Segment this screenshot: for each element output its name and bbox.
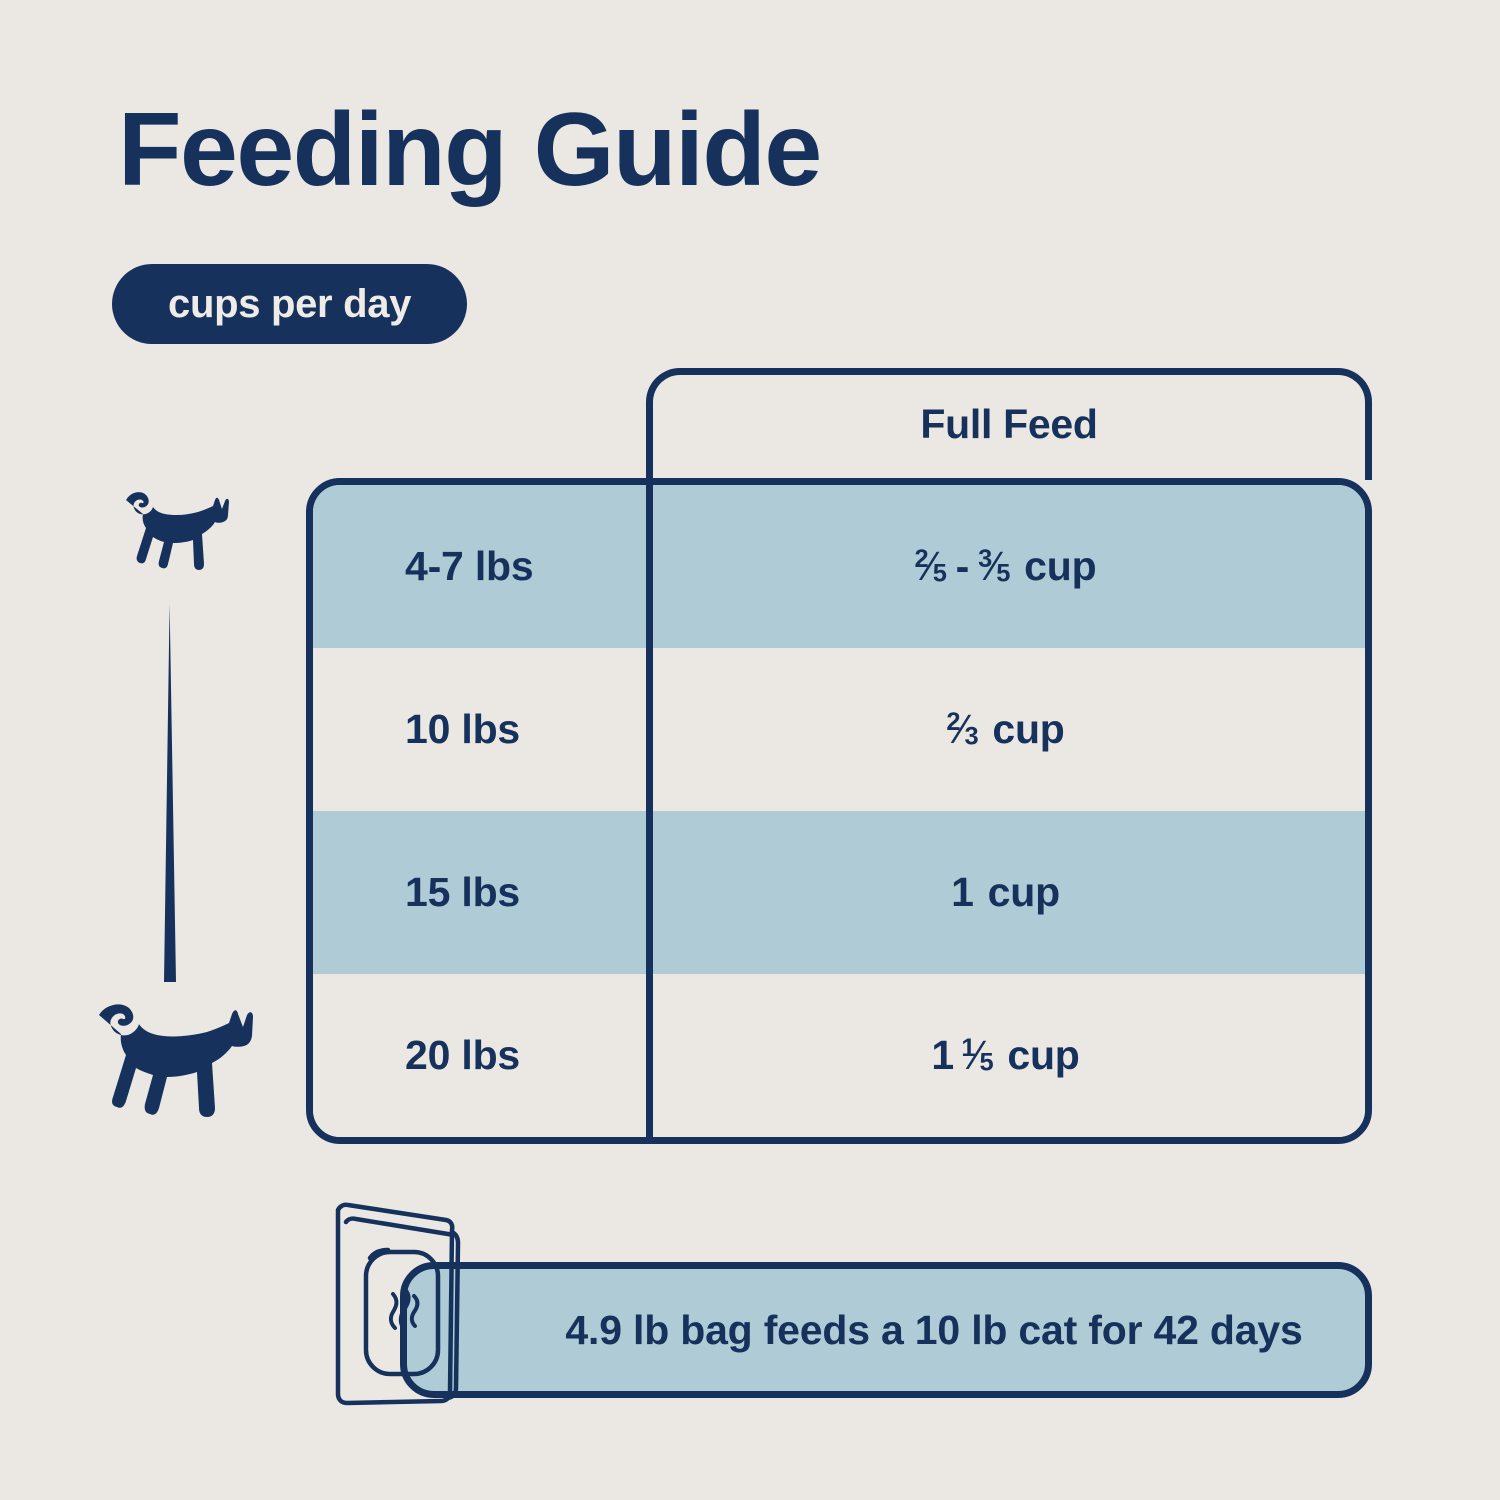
subtitle-badge: cups per day [112, 264, 467, 344]
bag-duration-banner: 4.9 lb bag feeds a 10 lb cat for 42 days [400, 1262, 1372, 1398]
row-weight: 20 lbs [313, 1032, 646, 1079]
amount-unit: cup [1024, 543, 1096, 590]
table-row: 15 lbs 1cup [313, 811, 1365, 974]
feeding-table: Full Feed 4-7 lbs 2⁄5-3⁄5cup 10 lbs 2⁄3c… [306, 368, 1372, 1144]
fraction-two-fifths: 2⁄5 [915, 543, 947, 590]
amount-whole: 1 [951, 869, 974, 916]
page-title: Feeding Guide [118, 98, 821, 202]
cat-small-icon [112, 486, 236, 590]
range-dash: - [956, 543, 969, 590]
feeding-table-rows: 4-7 lbs 2⁄5-3⁄5cup 10 lbs 2⁄3cup 15 lbs … [313, 485, 1365, 1137]
amount-unit: cup [988, 869, 1060, 916]
row-amount: 11⁄5cup [646, 1032, 1365, 1079]
table-row: 20 lbs 11⁄5cup [313, 974, 1365, 1137]
feeding-table-body: 4-7 lbs 2⁄5-3⁄5cup 10 lbs 2⁄3cup 15 lbs … [306, 478, 1372, 1144]
row-weight: 4-7 lbs [313, 543, 646, 590]
row-weight: 10 lbs [313, 706, 646, 753]
amount-unit: cup [1007, 1032, 1079, 1079]
bag-duration-text: 4.9 lb bag feeds a 10 lb cat for 42 days [469, 1307, 1302, 1354]
fraction-three-fifths: 3⁄5 [978, 543, 1010, 590]
fraction-two-thirds: 2⁄3 [946, 706, 978, 753]
food-bag-icon [300, 1192, 500, 1414]
amount-column-header: Full Feed [646, 368, 1372, 480]
row-amount: 2⁄5-3⁄5cup [646, 543, 1365, 590]
row-amount: 1cup [646, 869, 1365, 916]
table-row: 4-7 lbs 2⁄5-3⁄5cup [313, 485, 1365, 648]
row-weight: 15 lbs [313, 869, 646, 916]
amount-whole: 1 [931, 1032, 954, 1079]
row-amount: 2⁄3cup [646, 706, 1365, 753]
fraction-one-fifth: 1⁄5 [961, 1032, 993, 1079]
amount-unit: cup [992, 706, 1064, 753]
table-row: 10 lbs 2⁄3cup [313, 648, 1365, 811]
cat-large-icon [78, 996, 264, 1136]
subtitle-badge-label: cups per day [168, 282, 411, 327]
column-divider [646, 485, 653, 1137]
growth-wedge-icon [155, 604, 185, 982]
